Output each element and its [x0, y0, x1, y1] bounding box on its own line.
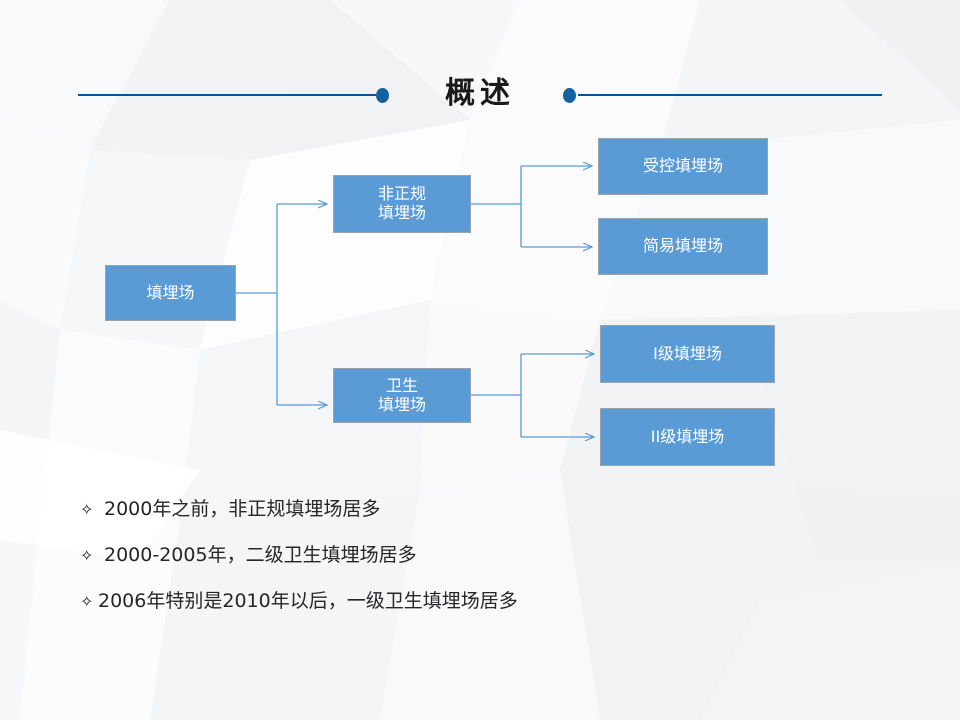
bullet-item-text: 2000-2005年，二级卫生填埋场居多 — [104, 540, 417, 567]
diagram-node-root[interactable]: 填埋场 — [105, 265, 236, 321]
bullet-item-text: 2000年之前，非正规填埋场居多 — [104, 494, 380, 521]
bullet-star-icon: ✧ — [80, 592, 98, 611]
bullet-item-text: 2006年特别是2010年以后，一级卫生填埋场居多 — [98, 586, 518, 613]
bullet-item: ✧ 2000-2005年，二级卫生填埋场居多 — [80, 540, 780, 586]
diagram-node-level-2-landfill[interactable]: II级填埋场 — [600, 408, 775, 466]
slide-canvas: 概述 填埋场 非正规 填埋场 卫生 填埋场 受控填埋场 — [0, 0, 960, 720]
diagram-node-simple-landfill[interactable]: 简易填埋场 — [598, 218, 768, 275]
page-title: 概述 — [0, 68, 960, 112]
diagram-node-sanitary-landfill[interactable]: 卫生 填埋场 — [333, 368, 471, 423]
title-band: 概述 — [0, 62, 960, 128]
bullet-item: ✧ 2000年之前，非正规填埋场居多 — [80, 494, 780, 540]
bullet-list: ✧ 2000年之前，非正规填埋场居多 ✧ 2000-2005年，二级卫生填埋场居… — [80, 494, 780, 632]
title-dot-right-icon — [563, 88, 576, 103]
bullet-item: ✧ 2006年特别是2010年以后，一级卫生填埋场居多 — [80, 586, 780, 632]
bullet-star-icon: ✧ — [80, 500, 104, 519]
diagram-node-informal-landfill[interactable]: 非正规 填埋场 — [333, 175, 471, 233]
bullet-star-icon: ✧ — [80, 546, 104, 565]
diagram-node-controlled-landfill[interactable]: 受控填埋场 — [598, 138, 768, 195]
title-rule-right — [578, 94, 882, 96]
diagram-node-level-1-landfill[interactable]: I级填埋场 — [600, 325, 775, 383]
